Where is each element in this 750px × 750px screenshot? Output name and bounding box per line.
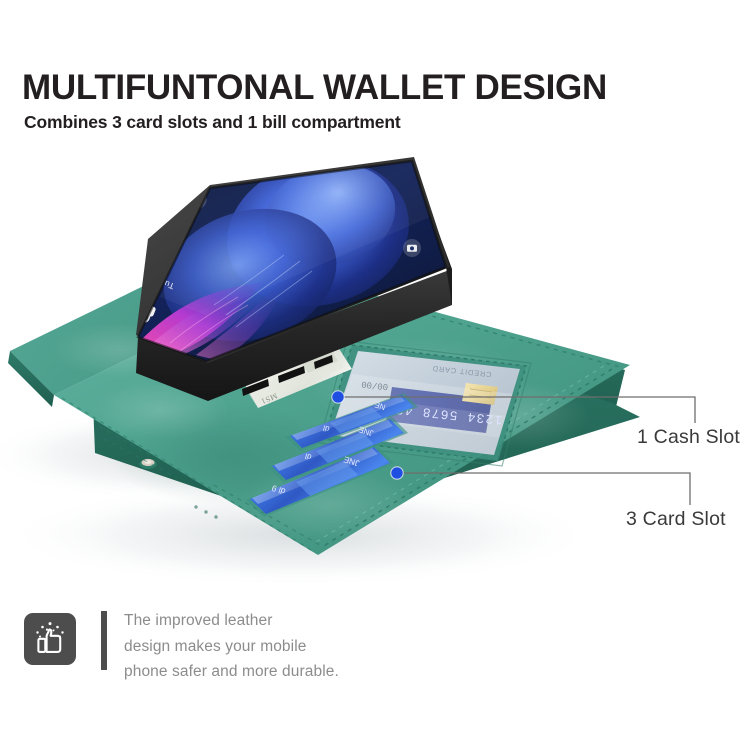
- lockscreen-time: 10:08: [58, 226, 149, 291]
- feature-line-3: phone safer and more durable.: [124, 659, 339, 685]
- product-photo: 1234 5678 4321 00/00 CREDIT CARD: [0, 155, 660, 585]
- feature-divider-bar: [101, 611, 107, 670]
- product-infographic-canvas: MULTIFUNTONAL WALLET DESIGN Combines 3 c…: [0, 0, 750, 750]
- callout-label-cash-slot: 1 Cash Slot: [637, 426, 740, 449]
- feature-line-2: design makes your mobile: [124, 634, 339, 660]
- feature-description: The improved leather design makes your m…: [124, 608, 339, 685]
- thumbs-up-icon: [24, 613, 76, 665]
- feature-callout: The improved leather design makes your m…: [24, 608, 444, 688]
- feature-line-1: The improved leather: [124, 608, 339, 634]
- page-subtitle: Combines 3 card slots and 1 bill compart…: [24, 112, 401, 133]
- status-icon-battery: [240, 172, 253, 180]
- page-title: MULTIFUNTONAL WALLET DESIGN: [22, 70, 607, 107]
- callout-label-card-slot: 3 Card Slot: [626, 508, 726, 531]
- camera-icon: [403, 239, 421, 257]
